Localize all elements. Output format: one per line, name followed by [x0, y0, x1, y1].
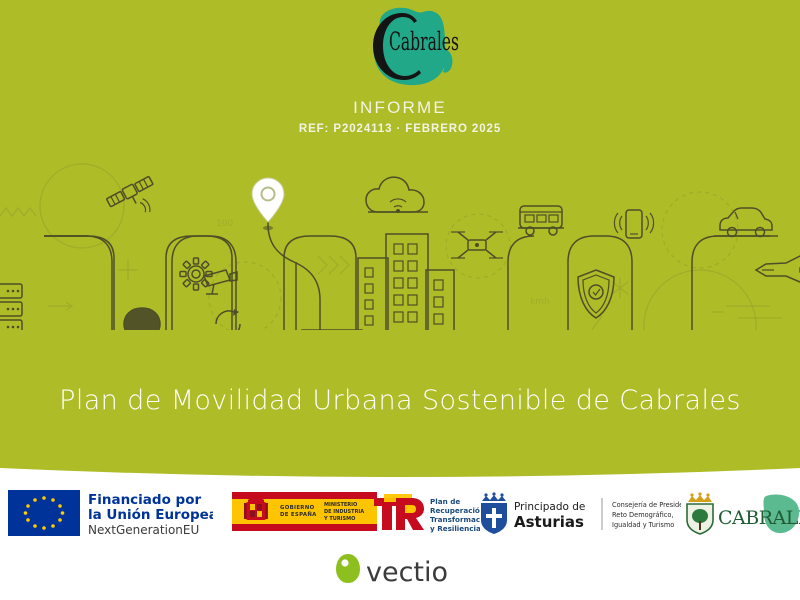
mobility-illustration: .ln { fill:none; stroke:#4d4e27; stroke-…: [0, 158, 800, 330]
gobierno-de-espana-logo: GOBIERNO DE ESPAÑA MINISTERIO DE INDUSTR…: [232, 492, 377, 532]
page-title: Plan de Movilidad Urbana Sostenible de C…: [0, 383, 800, 419]
plan-recuperacion-logo: Plan de Recuperación, Transformación y R…: [372, 490, 480, 536]
ghost-arrow-1: [48, 302, 72, 310]
spain-line2: DE ESPAÑA: [280, 511, 317, 518]
asturias-dept2: Reto Demográfico,: [612, 511, 674, 519]
funding-logos-row: Financiado por la Unión Europea NextGene…: [0, 482, 800, 544]
smartphone-signal-icon: [614, 210, 653, 238]
asturias-emblem: [481, 492, 507, 534]
report-meta: INFORME REF: P2024113 · FEBRERO 2025: [0, 98, 800, 136]
eu-line2: la Unión Europea: [88, 507, 213, 523]
report-type-label: INFORME: [0, 98, 800, 118]
road-main: [44, 236, 296, 330]
shield-check-icon: [578, 270, 614, 318]
vectio-logo-row: vectio: [0, 545, 800, 595]
spain-ministry1: MINISTERIO: [324, 502, 357, 508]
ghost-plus-1: [118, 260, 138, 280]
hero-section: Cabrales INFORME REF: P2024113 · FEBRERO…: [0, 0, 800, 480]
vectio-mark: [336, 554, 360, 583]
asturias-line1: Principado de: [514, 501, 585, 513]
ghost-check-1: [578, 316, 602, 330]
eu-line1: Financiado por: [88, 492, 201, 508]
eu-line3: NextGenerationEU: [88, 523, 199, 537]
prtr-mark: [374, 494, 424, 530]
bus-icon: [518, 206, 564, 235]
winding-road-path: [44, 236, 356, 330]
asturias-dept1: Consejería de Presidencia,: [612, 501, 681, 509]
ghost-text-1: 100: [216, 219, 233, 229]
cloud-wifi-icon: [366, 177, 428, 213]
asturias-dept3: Igualdad y Turismo: [612, 521, 674, 529]
vectio-wordmark: vectio: [366, 557, 448, 588]
road-mid: [268, 214, 320, 330]
asturias-line2: Asturias: [514, 513, 584, 531]
road-right: [508, 236, 770, 330]
server-rack-icon: [0, 284, 22, 330]
ghost-zigzag-1: [0, 208, 36, 216]
european-union-funding-logo: Financiado por la Unión Europea NextGene…: [8, 488, 213, 540]
logo-wordmark: Cabrales: [389, 27, 459, 56]
cabrales-logo: Cabrales: [347, 2, 467, 90]
chevrons-right-icon: [318, 256, 349, 274]
cabrales-coat-of-arms: [687, 492, 713, 534]
prtr-line3: Transformación: [430, 515, 480, 524]
ghost-text-2: kmh: [530, 297, 550, 307]
drone-icon: [451, 232, 503, 258]
prtr-line1: Plan de: [430, 497, 460, 506]
spain-stripe-bottom: [232, 524, 377, 531]
spain-ministry2: DE INDUSTRIA: [324, 509, 364, 515]
report-reference-label: REF: P2024113 · FEBRERO 2025: [0, 122, 800, 136]
tree-icon: [124, 308, 160, 330]
ghost-lines-2: [712, 306, 782, 318]
prtr-line2: Recuperación,: [430, 506, 480, 515]
vectio-logo: vectio: [330, 550, 470, 590]
ghost-circle-5: [644, 270, 756, 330]
spain-ministry3: Y TURISMO: [323, 516, 355, 522]
vectio-mark-dot: [341, 559, 348, 566]
footer-section: Financiado por la Unión Europea NextGene…: [0, 480, 800, 600]
prtr-line4: y Resiliencia: [430, 524, 480, 533]
airplane-icon: [756, 255, 800, 283]
principado-de-asturias-logo: Principado de Asturias Consejería de Pre…: [476, 490, 681, 536]
spain-line1: GOBIERNO: [280, 505, 315, 511]
map-pin-icon: [252, 178, 284, 230]
satellite-icon: [106, 175, 164, 227]
car-icon: [714, 208, 778, 237]
cabrales-wordmark: CABRALES: [718, 507, 800, 529]
ayuntamiento-cabrales-logo: CABRALES: [682, 488, 800, 538]
